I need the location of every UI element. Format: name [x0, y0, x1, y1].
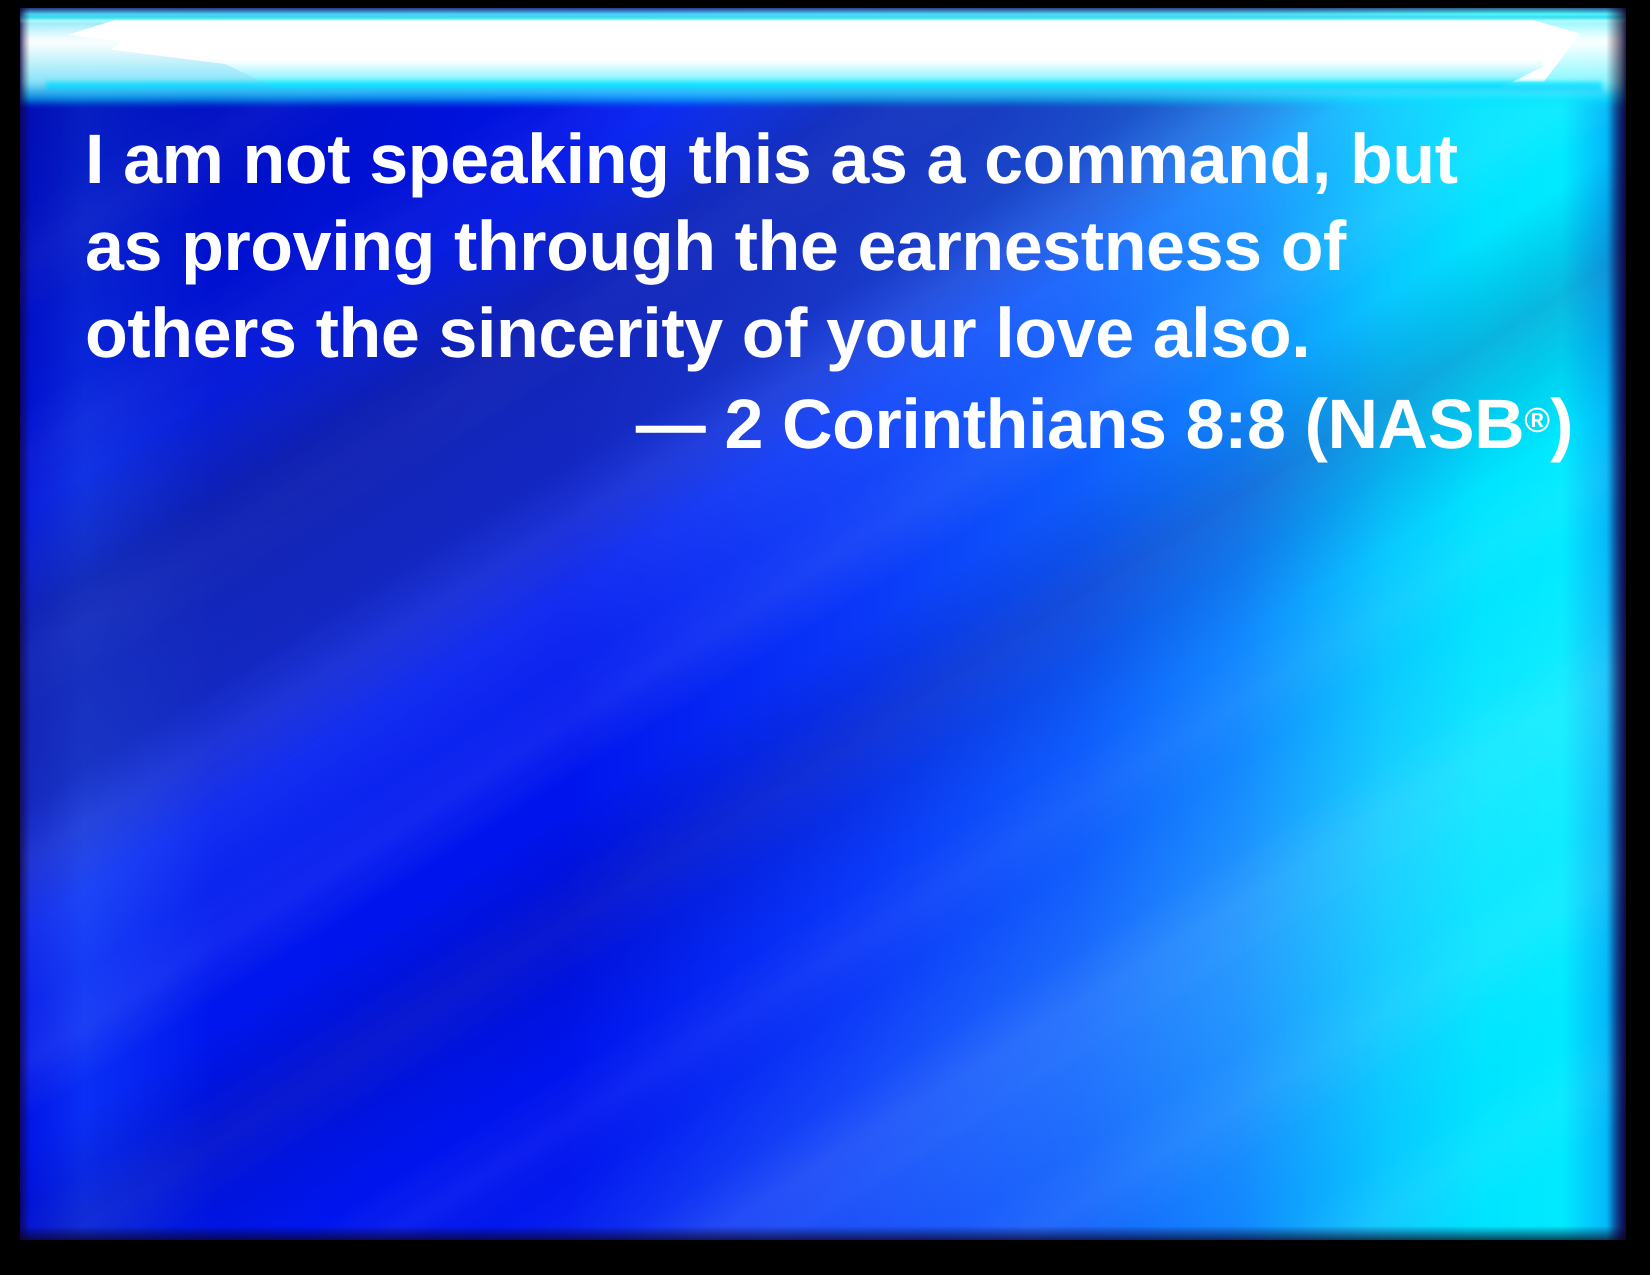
slide-background: I am not speaking this as a command, but… [20, 8, 1626, 1240]
frame-border-top [0, 0, 1650, 8]
citation-spacer-2 [1167, 385, 1186, 463]
citation-dash: — [636, 385, 706, 463]
verse-line-2: as proving through the earnestness of [85, 203, 1585, 290]
frame-border-right [1626, 0, 1650, 1275]
citation-spacer-1 [705, 385, 724, 463]
citation-chapter-verse: 8:8 [1186, 385, 1286, 463]
registered-trademark-icon: ® [1524, 401, 1550, 440]
citation-translation-open: (NASB [1305, 385, 1525, 463]
citation-spacer-3 [1286, 385, 1305, 463]
verse-slide: I am not speaking this as a command, but… [0, 0, 1650, 1275]
frame-border-bottom [0, 1240, 1650, 1275]
verse-text-block: I am not speaking this as a command, but… [85, 116, 1585, 464]
verse-citation: — 2 Corinthians 8:8 (NASB®) [85, 377, 1585, 464]
frame-border-left [0, 0, 20, 1275]
citation-book: 2 Corinthians [724, 385, 1166, 463]
citation-translation-close: ) [1550, 385, 1573, 463]
verse-line-3: others the sincerity of your love also. [85, 290, 1585, 377]
verse-line-1: I am not speaking this as a command, but [85, 116, 1585, 203]
